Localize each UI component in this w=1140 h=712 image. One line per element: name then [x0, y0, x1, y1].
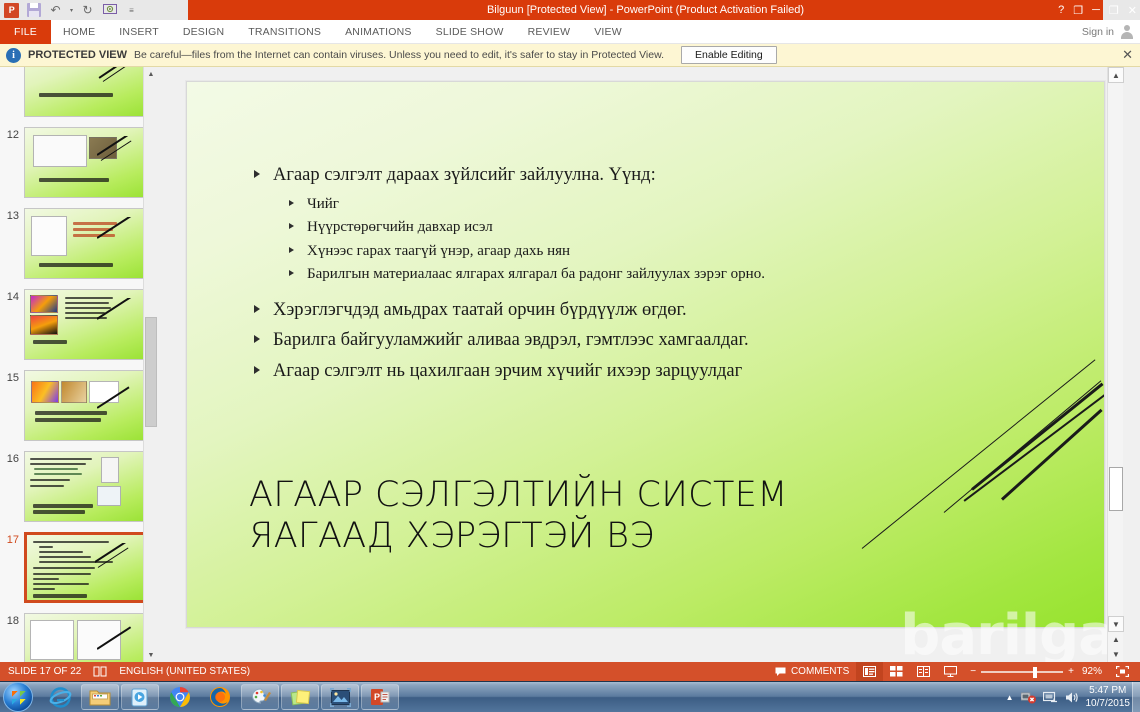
zoom-level-label[interactable]: 92%	[1080, 662, 1109, 681]
undo-dropdown-icon[interactable]: ▾	[68, 1, 75, 19]
powerpoint-logo-glyph: P	[4, 3, 19, 18]
bullet-level1: Барилга байгууламжийг аливаа эвдрэл, гэм…	[249, 329, 809, 353]
clock-time: 5:47 PM	[1086, 685, 1131, 698]
decorative-lines	[97, 67, 145, 111]
volume-icon[interactable]	[1065, 691, 1079, 704]
slide-title-line1: АГААР СЭЛГЭЛТИЙН СИСТЕМ	[249, 475, 969, 516]
bullet-text: Агаар сэлгэлт нь цахилгаан эрчим хүчийг …	[273, 361, 742, 381]
bullet-marker-icon	[254, 305, 260, 313]
zoom-out-button[interactable]: −	[970, 666, 976, 677]
bullet-level2: Чийг	[249, 195, 949, 215]
decorative-lines	[95, 543, 143, 599]
protected-view-label: PROTECTED VIEW	[28, 49, 127, 61]
tab-design[interactable]: DESIGN	[171, 20, 236, 44]
view-normal-button[interactable]	[856, 662, 883, 681]
save-icon[interactable]	[24, 1, 43, 19]
slide-title: АГААР СЭЛГЭЛТИЙН СИСТЕМ ЯАГААД ХЭРЭГТЭЙ …	[249, 475, 969, 556]
status-right: COMMENTS − + 92%	[768, 662, 1136, 681]
scroll-down-icon[interactable]: ▼	[144, 648, 157, 662]
zoom-track[interactable]	[981, 671, 1063, 673]
undo-icon[interactable]: ↶	[46, 1, 65, 19]
bullet-marker-icon	[254, 335, 260, 343]
network-error-icon[interactable]	[1021, 691, 1036, 704]
powerpoint-taskbar-icon[interactable]: P	[361, 684, 399, 710]
slide-thumbnail-pane[interactable]: 11 12	[0, 67, 157, 662]
bullet-text: Хүнээс гарах таагүй үнэр, агаар дахь нян	[307, 243, 570, 259]
tab-slide-show[interactable]: SLIDE SHOW	[424, 20, 516, 44]
language-indicator[interactable]: ENGLISH (UNITED STATES)	[119, 666, 250, 677]
scrollbar-thumb[interactable]	[1109, 467, 1123, 511]
zoom-slider[interactable]: − +	[964, 666, 1080, 677]
quick-access-toolbar: P ↶ ▾ ↻ ≡	[2, 0, 141, 20]
thumbnail-preview[interactable]	[24, 370, 148, 441]
bullet-text: Нүүрстөрөгчийн давхар исэл	[307, 219, 493, 235]
restore-button[interactable]: ❐	[1109, 4, 1119, 17]
thumbnail-scrollbar[interactable]: ▲ ▼	[143, 67, 157, 662]
bullet-marker-icon	[254, 366, 260, 374]
svg-text:P: P	[374, 692, 380, 702]
customize-qat-icon[interactable]: ≡	[122, 1, 141, 19]
list-item[interactable]: 15	[0, 365, 155, 446]
sticky-notes-icon[interactable]	[281, 684, 319, 710]
thumbnail-preview[interactable]	[24, 613, 148, 662]
comments-button[interactable]: COMMENTS	[768, 662, 856, 681]
scroll-up-icon[interactable]: ▲	[1108, 67, 1124, 83]
avatar-icon	[1120, 25, 1134, 39]
view-slide-sorter-button[interactable]	[883, 662, 910, 681]
info-icon: i	[6, 48, 21, 63]
file-explorer-icon[interactable]	[81, 684, 119, 710]
google-chrome-icon[interactable]	[161, 684, 199, 710]
current-slide[interactable]: Агаар сэлгэлт дараах зүйлсийг зайлуулна.…	[186, 81, 1105, 628]
comments-label: COMMENTS	[791, 666, 849, 677]
slide-body-text: Агаар сэлгэлт дараах зүйлсийг зайлуулна.…	[249, 164, 949, 391]
tab-home[interactable]: HOME	[51, 20, 107, 44]
thumbnail-preview-selected[interactable]	[24, 532, 148, 603]
bullet-level1: Агаар сэлгэлт дараах зүйлсийг зайлуулна.…	[249, 164, 949, 188]
thumbnail-number: 17	[2, 532, 24, 546]
list-item[interactable]: 16	[0, 446, 155, 527]
window-controls: ? ❐ ─ ❐ ✕	[1058, 0, 1137, 20]
bullet-level2: Барилгын материалаас ялгарах ялгарал ба …	[249, 265, 949, 285]
bullet-level1: Хэрэглэгчдэд амьдрах таатай орчин бүрдүү…	[249, 299, 949, 323]
bullet-text: Агаар сэлгэлт дараах зүйлсийг зайлуулна.…	[273, 165, 656, 185]
scrollbar-thumb[interactable]	[145, 317, 157, 427]
paint-icon[interactable]	[241, 684, 279, 710]
bullet-text: Чийг	[307, 196, 339, 212]
canvas-scrollbar[interactable]: ▲ ▼ ▲ ▼	[1107, 67, 1123, 662]
thumbnail-number: 12	[2, 127, 24, 141]
bullet-text: Барилга байгууламжийг аливаа эвдрэл, гэм…	[273, 330, 749, 350]
close-button[interactable]: ✕	[1128, 4, 1137, 17]
close-icon[interactable]: ✕	[1122, 47, 1133, 63]
action-center-icon[interactable]	[1043, 691, 1058, 704]
slideshow-button[interactable]	[937, 662, 964, 681]
view-reading-button[interactable]	[910, 662, 937, 681]
start-button[interactable]	[3, 682, 33, 712]
fit-slide-icon[interactable]	[1109, 662, 1136, 681]
workspace: 11 12	[0, 67, 1140, 662]
scroll-up-icon[interactable]: ▲	[144, 67, 157, 81]
next-slide-icon[interactable]: ▼	[1108, 647, 1124, 662]
bullet-text: Хэрэглэгчдэд амьдрах таатай орчин бүрдүү…	[273, 300, 687, 320]
redo-icon[interactable]: ↻	[78, 1, 97, 19]
photo-viewer-icon[interactable]	[321, 684, 359, 710]
list-item[interactable]: 11	[0, 67, 155, 122]
slide-thumbnail-list: 11 12	[0, 67, 155, 662]
thumbnail-preview[interactable]	[24, 451, 148, 522]
thumbnail-number: 13	[2, 208, 24, 222]
show-hidden-icons-button[interactable]: ▲	[1006, 693, 1014, 702]
bullet-marker-icon	[289, 247, 294, 253]
tab-file[interactable]: FILE	[0, 20, 51, 44]
bullet-level2: Хүнээс гарах таагүй үнэр, агаар дахь нян	[249, 242, 949, 262]
notes-icon[interactable]	[93, 666, 107, 677]
status-bar: SLIDE 17 OF 22 ENGLISH (UNITED STATES) C…	[0, 662, 1140, 681]
bullet-marker-icon	[254, 170, 260, 178]
system-tray: ▲ 5:47 PM 10/7/2015	[1006, 682, 1140, 712]
slide-counter[interactable]: SLIDE 17 OF 22	[8, 666, 81, 677]
decorative-lines	[97, 379, 145, 435]
thumbnail-preview[interactable]	[24, 127, 148, 198]
tab-review[interactable]: REVIEW	[516, 20, 583, 44]
thumbnail-number: 14	[2, 289, 24, 303]
powerpoint-window: P ↶ ▾ ↻ ≡ Bilguun [Protected View] - Pow…	[0, 0, 1140, 712]
tab-view[interactable]: VIEW	[582, 20, 634, 44]
bullet-marker-icon	[289, 223, 294, 229]
thumbnail-preview[interactable]	[24, 67, 148, 117]
clock-date: 10/7/2015	[1086, 698, 1131, 711]
list-item[interactable]: 17	[0, 527, 155, 608]
scroll-down-icon[interactable]: ▼	[1108, 616, 1124, 632]
minimize-button[interactable]: ─	[1092, 4, 1100, 16]
protected-view-message: Be careful—files from the Internet can c…	[134, 49, 664, 61]
ribbon: FILE HOME INSERT DESIGN TRANSITIONS ANIM…	[0, 20, 1140, 44]
ribbon-display-options-button[interactable]: ❐	[1073, 4, 1083, 17]
thumbnail-number: 16	[2, 451, 24, 465]
window-title: Bilguun [Protected View] - PowerPoint (P…	[188, 0, 1103, 20]
ribbon-tabs: FILE HOME INSERT DESIGN TRANSITIONS ANIM…	[0, 20, 634, 44]
show-desktop-button[interactable]	[1132, 682, 1140, 712]
list-item[interactable]: 13	[0, 203, 155, 284]
clock[interactable]: 5:47 PM 10/7/2015	[1086, 685, 1131, 710]
enable-editing-button[interactable]: Enable Editing	[681, 46, 777, 64]
firefox-icon[interactable]	[201, 684, 239, 710]
bullet-level2: Нүүрстөрөгчийн давхар исэл	[249, 218, 949, 238]
thumbnail-number: 15	[2, 370, 24, 384]
thumbnail-number: 18	[2, 613, 24, 627]
list-item[interactable]: 12	[0, 122, 155, 203]
previous-slide-icon[interactable]: ▲	[1108, 632, 1124, 647]
bullet-marker-icon	[289, 200, 294, 206]
zoom-in-button[interactable]: +	[1068, 666, 1074, 677]
slide-canvas-area: Агаар сэлгэлт дараах зүйлсийг зайлуулна.…	[167, 67, 1123, 662]
tab-insert[interactable]: INSERT	[107, 20, 171, 44]
internet-explorer-icon[interactable]	[41, 684, 79, 710]
slide-title-line2: ЯАГААД ХЭРЭГТЭЙ ВЭ	[249, 516, 969, 557]
zoom-knob[interactable]	[1033, 667, 1037, 678]
bullet-text: Барилгын материалаас ялгарах ялгарал ба …	[307, 266, 765, 282]
decorative-lines	[97, 622, 145, 662]
sign-in-label: Sign in	[1082, 26, 1114, 38]
sign-in-area[interactable]: Sign in	[1082, 20, 1134, 44]
status-left: SLIDE 17 OF 22 ENGLISH (UNITED STATES)	[0, 666, 250, 677]
decorative-lines	[97, 217, 145, 273]
taskbar-items: P	[41, 684, 399, 710]
pane-splitter[interactable]	[157, 67, 167, 662]
thumbnail-preview[interactable]	[24, 208, 148, 279]
title-bar: P ↶ ▾ ↻ ≡ Bilguun [Protected View] - Pow…	[0, 0, 1140, 20]
help-button[interactable]: ?	[1058, 4, 1064, 16]
powerpoint-icon[interactable]: P	[2, 1, 21, 19]
protected-view-bar: i PROTECTED VIEW Be careful—files from t…	[0, 44, 1140, 67]
windows-taskbar: P ▲ 5:47 PM 10/7/2015	[0, 681, 1140, 712]
tab-transitions[interactable]: TRANSITIONS	[236, 20, 333, 44]
decorative-lines	[97, 136, 145, 192]
bullet-marker-icon	[289, 270, 294, 276]
start-slideshow-icon[interactable]	[100, 1, 119, 19]
scroll-buttons: ▼ ▲ ▼	[1108, 616, 1124, 662]
bullet-level1: Агаар сэлгэлт нь цахилгаан эрчим хүчийг …	[249, 360, 779, 384]
list-item[interactable]: 14	[0, 284, 155, 365]
decorative-lines	[97, 298, 145, 354]
thumbnail-preview[interactable]	[24, 289, 148, 360]
media-player-icon[interactable]	[121, 684, 159, 710]
list-item[interactable]: 18	[0, 608, 155, 662]
tab-animations[interactable]: ANIMATIONS	[333, 20, 424, 44]
